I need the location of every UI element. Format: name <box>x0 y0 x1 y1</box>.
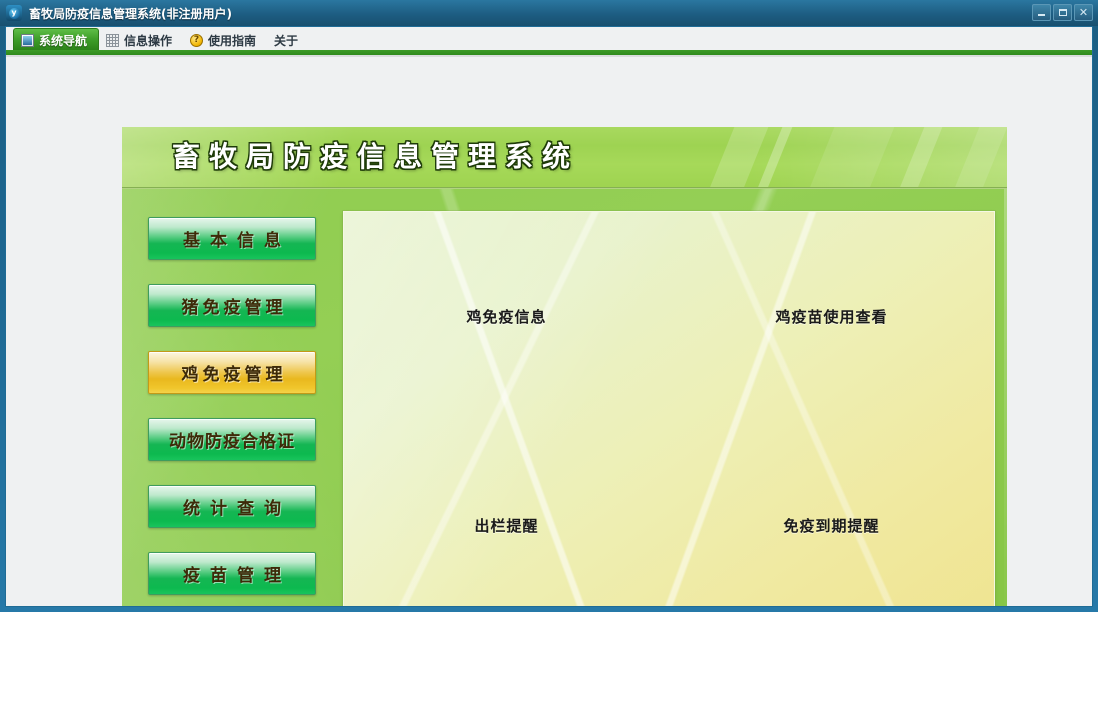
menu-cell: 免疫到期提醒 <box>669 421 994 606</box>
sidebar-item-label: 动物防疫合格证 <box>169 427 295 452</box>
sidebar-item-pig-immunity[interactable]: 猪免疫管理 <box>148 284 316 327</box>
navigation-icon <box>21 34 34 47</box>
tab-bar: 系统导航 信息操作 ? 使用指南 关于 <box>6 27 1092 51</box>
banner-streak <box>947 127 1007 189</box>
tab-label: 系统导航 <box>39 32 87 49</box>
menu-cell: 鸡疫苗使用查看 <box>669 212 994 421</box>
main-green-panel: 畜牧局防疫信息管理系统 基本信息 猪免疫管理 鸡免疫管理 动物防疫合 <box>122 127 1007 606</box>
window-client-frame: 系统导航 信息操作 ? 使用指南 关于 <box>5 26 1093 607</box>
maximize-restore-button[interactable] <box>1053 4 1072 21</box>
application-window: y 畜牧局防疫信息管理系统(非注册用户) ✕ 系统导航 信息操作 ? 使用指南 <box>0 0 1098 612</box>
menu-cell: 出栏提醒 <box>344 421 669 606</box>
app-logo-icon: y <box>6 5 22 21</box>
tab-user-guide[interactable]: ? 使用指南 <box>183 29 267 51</box>
menu-cell: 鸡免疫信息 <box>344 212 669 421</box>
sidebar-item-animal-quarantine-certificate[interactable]: 动物防疫合格证 <box>148 418 316 461</box>
tab-label: 使用指南 <box>208 32 256 49</box>
sidebar-nav: 基本信息 猪免疫管理 鸡免疫管理 动物防疫合格证 统计查询 <box>148 217 318 606</box>
app-banner: 畜牧局防疫信息管理系统 <box>122 127 1007 189</box>
menu-item-immunity-expiry-reminder[interactable]: 免疫到期提醒 <box>783 515 879 536</box>
sidebar-item-label: 猪免疫管理 <box>178 293 287 318</box>
sidebar-item-chicken-immunity[interactable]: 鸡免疫管理 <box>148 351 316 394</box>
tab-label: 关于 <box>274 32 298 49</box>
content-panel: 鸡免疫信息 鸡疫苗使用查看 出栏提醒 免疫到期提醒 <box>343 211 995 606</box>
window-title: 畜牧局防疫信息管理系统(非注册用户) <box>29 5 232 22</box>
sidebar-item-vaccine-management[interactable]: 疫苗管理 <box>148 552 316 595</box>
close-button[interactable]: ✕ <box>1074 4 1093 21</box>
banner-streak <box>750 127 800 189</box>
menu-item-slaughter-reminder[interactable]: 出栏提醒 <box>474 515 538 536</box>
sidebar-item-label: 鸡免疫管理 <box>178 360 287 385</box>
window-controls: ✕ <box>1032 4 1093 21</box>
tab-system-navigation[interactable]: 系统导航 <box>13 28 99 51</box>
sidebar-item-label: 统计查询 <box>173 494 291 519</box>
tab-info-operations[interactable]: 信息操作 <box>99 29 183 51</box>
tab-label: 信息操作 <box>124 32 172 49</box>
sidebar-item-label: 疫苗管理 <box>173 561 291 586</box>
grid-icon <box>106 34 119 47</box>
client-area: 畜牧局防疫信息管理系统 基本信息 猪免疫管理 鸡免疫管理 动物防疫合 <box>6 57 1092 606</box>
minimize-button[interactable] <box>1032 4 1051 21</box>
banner-title: 畜牧局防疫信息管理系统 <box>172 135 579 175</box>
banner-divider <box>122 187 1007 189</box>
sidebar-item-basic-info[interactable]: 基本信息 <box>148 217 316 260</box>
banner-streak <box>702 127 776 189</box>
panel-right-edge <box>1004 189 1007 606</box>
help-question-icon: ? <box>190 34 203 47</box>
sidebar-item-statistics-query[interactable]: 统计查询 <box>148 485 316 528</box>
tab-about[interactable]: 关于 <box>267 29 309 51</box>
sidebar-item-label: 基本信息 <box>173 226 291 251</box>
menu-item-chicken-immunity-info[interactable]: 鸡免疫信息 <box>466 306 546 327</box>
title-bar: y 畜牧局防疫信息管理系统(非注册用户) ✕ <box>0 0 1098 26</box>
menu-grid: 鸡免疫信息 鸡疫苗使用查看 出栏提醒 免疫到期提醒 <box>344 212 994 606</box>
banner-streak <box>892 127 950 189</box>
menu-item-chicken-vaccine-usage-view[interactable]: 鸡疫苗使用查看 <box>775 306 887 327</box>
banner-streak <box>802 127 902 189</box>
